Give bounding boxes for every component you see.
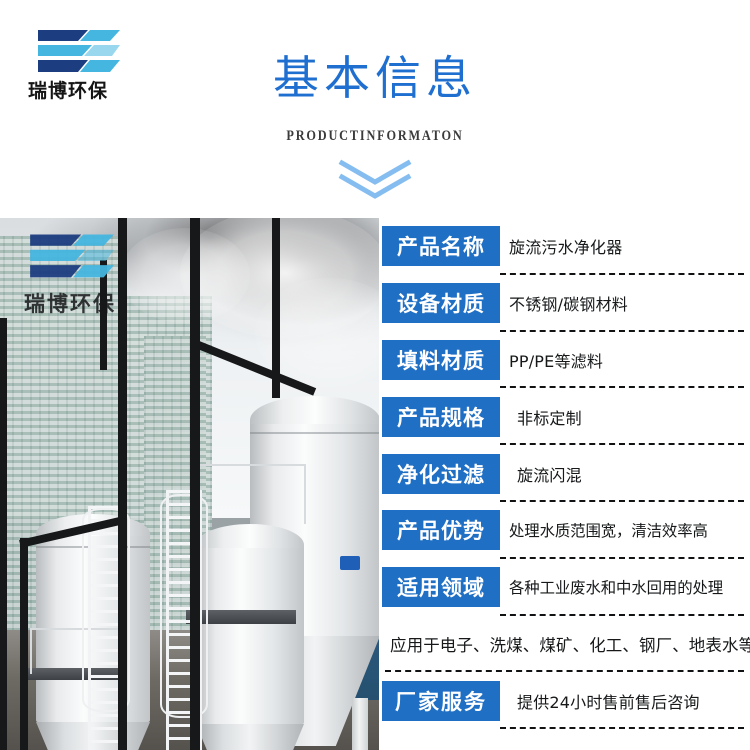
table-row: 产品名称 旋流污水净化器 (379, 218, 750, 275)
photo-tank-band (250, 432, 379, 434)
ribo-huanbao-logo-icon (22, 230, 118, 288)
spec-value: 各种工业废水和中水回用的处理 (500, 576, 750, 598)
table-row: 填料材质 PP/PE等滤料 (379, 332, 750, 389)
table-row: 产品规格 非标定制 (379, 388, 750, 445)
table-row: 适用领域 各种工业废水和中水回用的处理 (379, 559, 750, 616)
spec-label: 净化过滤 (382, 454, 500, 494)
spec-value: 不锈钢/碳钢材料 (500, 291, 750, 315)
table-row: 净化过滤 旋流闪混 (379, 445, 750, 502)
product-photo: 瑞博环保 (0, 218, 379, 750)
table-row: 应用于电子、洗煤、煤矿、化工、钢厂、地表水等行业 (379, 616, 750, 673)
spec-label: 产品规格 (382, 397, 500, 437)
photo-tank-cone (196, 724, 304, 750)
table-row: 产品优势 处理水质范围宽，清洁效率高 (379, 502, 750, 559)
photo-pipe (190, 218, 200, 750)
spec-label: 适用领域 (382, 567, 500, 607)
page-header: 瑞博环保 基本信息 PRODUCTINFORMATON (0, 0, 750, 218)
spec-label: 产品名称 (382, 226, 500, 266)
photo-tank-body (196, 548, 304, 724)
photo-watermark: 瑞博环保 (22, 230, 142, 316)
photo-ladder-cage (160, 494, 208, 718)
photo-pipe (20, 538, 28, 750)
spec-value: 处理水质范围宽，清洁效率高 (500, 519, 750, 541)
photo-watermark-name: 瑞博环保 (24, 294, 142, 315)
page-subtitle: PRODUCTINFORMATON (68, 128, 683, 145)
spec-value: 旋流污水净化器 (500, 234, 750, 258)
spec-value: 旋流闪混 (500, 462, 750, 486)
spec-label: 设备材质 (382, 283, 500, 323)
spec-value: 应用于电子、洗煤、煤矿、化工、钢厂、地表水等行业 (379, 632, 750, 656)
spec-value: PP/PE等滤料 (500, 348, 750, 372)
spec-label: 产品优势 (382, 510, 500, 550)
photo-valve (340, 556, 360, 570)
spec-label: 厂家服务 (382, 681, 500, 721)
product-info-page: 瑞博环保 基本信息 PRODUCTINFORMATON (0, 0, 750, 750)
double-chevron-down-icon (0, 158, 750, 200)
product-spec-table: 产品名称 旋流污水净化器 设备材质 不锈钢/碳钢材料 填料材质 PP/PE等滤料… (379, 218, 750, 750)
photo-tank-leg (352, 698, 368, 750)
table-row: 厂家服务 提供24小时售前售后咨询 (379, 672, 750, 729)
spec-value: 非标定制 (500, 405, 750, 429)
photo-pipe (0, 318, 7, 750)
spec-value: 提供24小时售前售后咨询 (500, 689, 750, 713)
page-title: 基本信息 (0, 54, 750, 102)
table-row: 设备材质 不锈钢/碳钢材料 (379, 275, 750, 332)
spec-label: 填料材质 (382, 340, 500, 380)
